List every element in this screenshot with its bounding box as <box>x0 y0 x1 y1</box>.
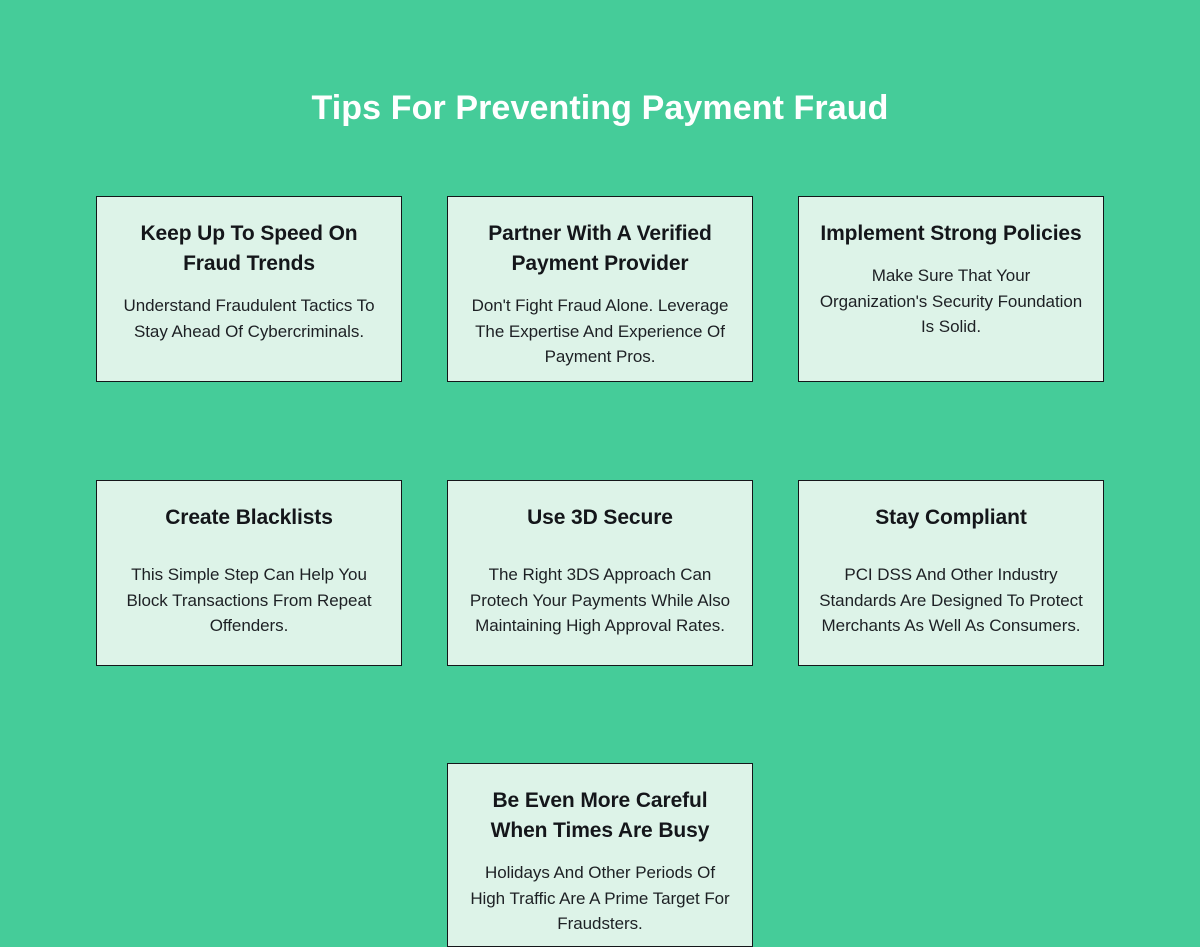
tip-card-title: Use 3D Secure <box>527 503 673 533</box>
tip-card-create-blacklists: Create Blacklists This Simple Step Can H… <box>96 480 402 666</box>
tip-card-stay-compliant: Stay Compliant PCI DSS And Other Industr… <box>798 480 1104 666</box>
tip-card-title: Keep Up To Speed On Fraud Trends <box>115 219 383 279</box>
card-row-1: Keep Up To Speed On Fraud Trends Underst… <box>96 196 1104 382</box>
tip-card-body: PCI DSS And Other Industry Standards Are… <box>817 562 1085 639</box>
tip-card-body: Don't Fight Fraud Alone. Leverage The Ex… <box>466 293 734 370</box>
tip-card-title: Stay Compliant <box>875 503 1026 533</box>
tips-card-grid: Keep Up To Speed On Fraud Trends Underst… <box>96 196 1104 947</box>
tip-card-body: The Right 3DS Approach Can Protech Your … <box>466 562 734 639</box>
card-row-3: Be Even More Careful When Times Are Busy… <box>96 763 1104 947</box>
page-title: Tips For Preventing Payment Fraud <box>0 86 1200 130</box>
tip-card-body: Holidays And Other Periods Of High Traff… <box>466 860 734 937</box>
tip-card-use-3d-secure: Use 3D Secure The Right 3DS Approach Can… <box>447 480 753 666</box>
tip-card-title: Create Blacklists <box>165 503 333 533</box>
tip-card-title: Partner With A Verified Payment Provider <box>466 219 734 279</box>
tip-card-partner-verified-provider: Partner With A Verified Payment Provider… <box>447 196 753 382</box>
infographic-root: Tips For Preventing Payment Fraud Keep U… <box>0 0 1200 943</box>
tip-card-implement-strong-policies: Implement Strong Policies Make Sure That… <box>798 196 1104 382</box>
tip-card-title: Implement Strong Policies <box>820 219 1081 249</box>
tip-card-title: Be Even More Careful When Times Are Busy <box>466 786 734 846</box>
tip-card-body: This Simple Step Can Help You Block Tran… <box>115 562 383 639</box>
tip-card-body: Understand Fraudulent Tactics To Stay Ah… <box>115 293 383 344</box>
tip-card-keep-up-to-speed: Keep Up To Speed On Fraud Trends Underst… <box>96 196 402 382</box>
tip-card-body: Make Sure That Your Organization's Secur… <box>817 263 1085 340</box>
card-row-2: Create Blacklists This Simple Step Can H… <box>96 480 1104 666</box>
tip-card-be-even-more-careful: Be Even More Careful When Times Are Busy… <box>447 763 753 947</box>
